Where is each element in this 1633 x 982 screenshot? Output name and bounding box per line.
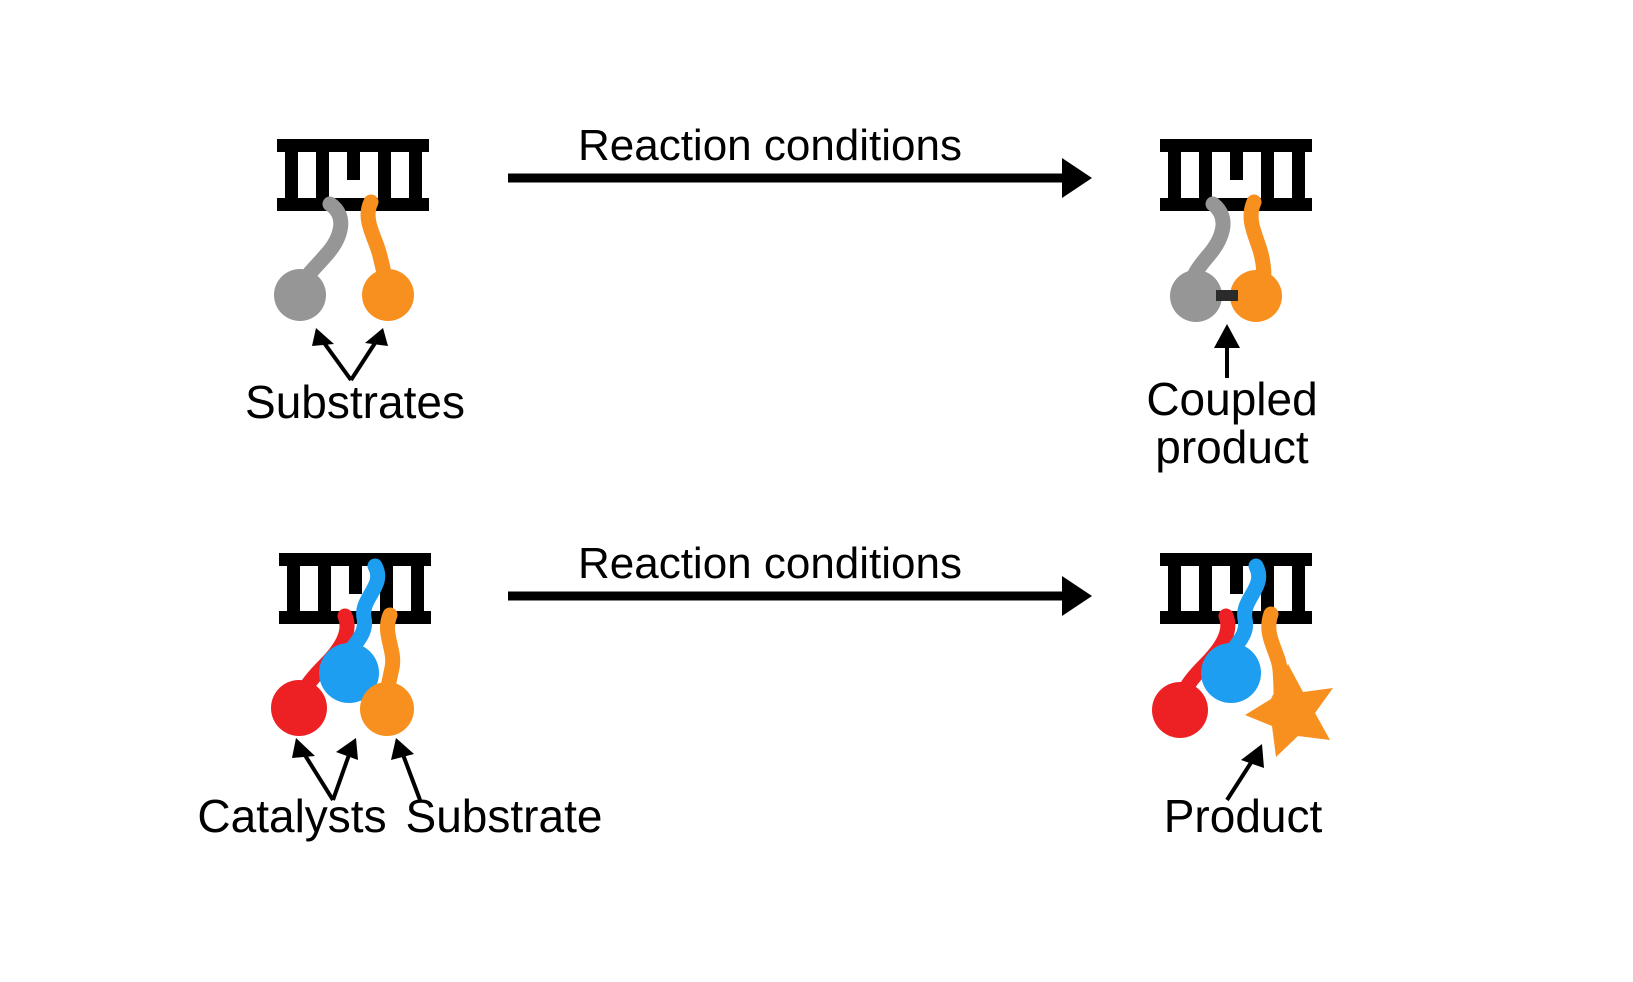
label-reaction-conditions-bottom: Reaction conditions <box>578 539 962 588</box>
label-substrate: Substrate <box>406 790 603 842</box>
reaction-scheme-diagram: Substrates Reaction conditions <box>0 0 1633 982</box>
label-substrates: Substrates <box>245 376 465 428</box>
label-catalysts: Catalysts <box>197 790 386 842</box>
label-coupled-line2: product <box>1155 421 1309 473</box>
coupling-bond <box>1216 290 1238 301</box>
label-product: Product <box>1164 790 1323 842</box>
figure-root: Substrates Reaction conditions <box>0 0 1633 982</box>
label-coupled-line1: Coupled <box>1146 373 1317 425</box>
label-reaction-conditions-top: Reaction conditions <box>578 121 962 170</box>
